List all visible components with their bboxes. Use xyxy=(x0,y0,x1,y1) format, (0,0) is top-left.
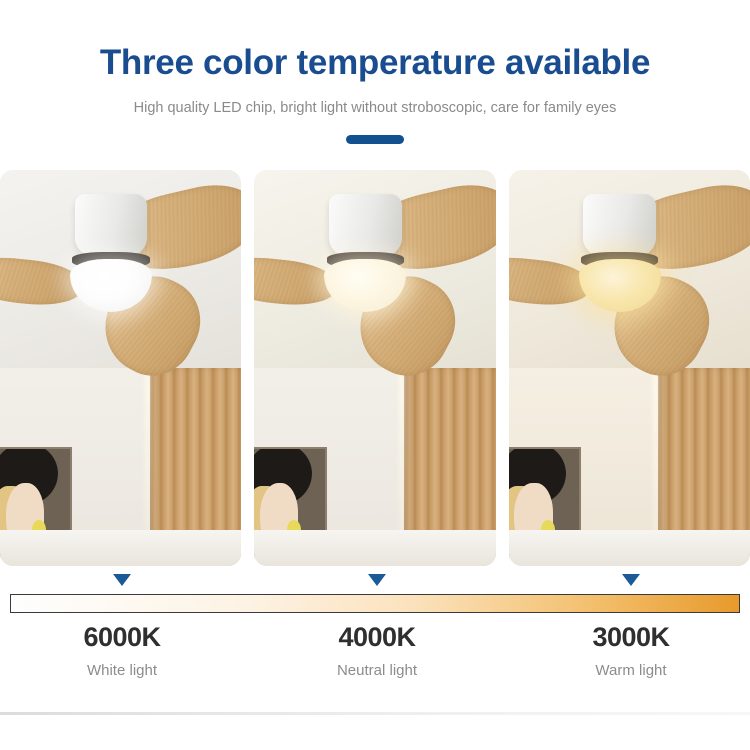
temperature-labels: 6000K White light 4000K Neutral light 30… xyxy=(0,622,750,702)
page-title: Three color temperature available xyxy=(0,44,750,83)
light-kind: Warm light xyxy=(592,662,669,679)
sofa xyxy=(0,530,241,566)
sofa xyxy=(254,530,495,566)
kelvin-value: 6000K xyxy=(83,622,160,653)
light-kind: Neutral light xyxy=(337,662,417,679)
marker-triangle-6000k xyxy=(113,574,131,586)
panel-6000k xyxy=(0,170,241,566)
light-kind: White light xyxy=(83,662,160,679)
marker-triangle-4000k xyxy=(368,574,386,586)
sofa xyxy=(509,530,750,566)
fan-motor-housing xyxy=(583,194,655,261)
kelvin-value: 3000K xyxy=(592,622,669,653)
marker-triangle-3000k xyxy=(622,574,640,586)
label-3000k: 3000K Warm light xyxy=(592,622,669,679)
kelvin-value: 4000K xyxy=(337,622,417,653)
fan-motor-housing xyxy=(329,194,401,261)
ceiling-fan xyxy=(509,170,750,392)
label-6000k: 6000K White light xyxy=(83,622,160,679)
panel-4000k xyxy=(254,170,495,566)
product-feature-page: Three color temperature available High q… xyxy=(0,0,750,750)
title-underline-bar xyxy=(346,135,404,144)
temperature-markers xyxy=(0,574,750,592)
page-subtitle: High quality LED chip, bright light with… xyxy=(0,100,750,116)
color-temperature-gradient-bar xyxy=(10,594,740,613)
footer-divider xyxy=(0,712,750,715)
panel-3000k xyxy=(509,170,750,566)
fan-motor-housing xyxy=(75,194,147,261)
header: Three color temperature available High q… xyxy=(0,0,750,144)
ceiling-fan xyxy=(254,170,495,392)
ceiling-fan xyxy=(0,170,241,392)
label-4000k: 4000K Neutral light xyxy=(337,622,417,679)
product-image-row xyxy=(0,170,750,566)
